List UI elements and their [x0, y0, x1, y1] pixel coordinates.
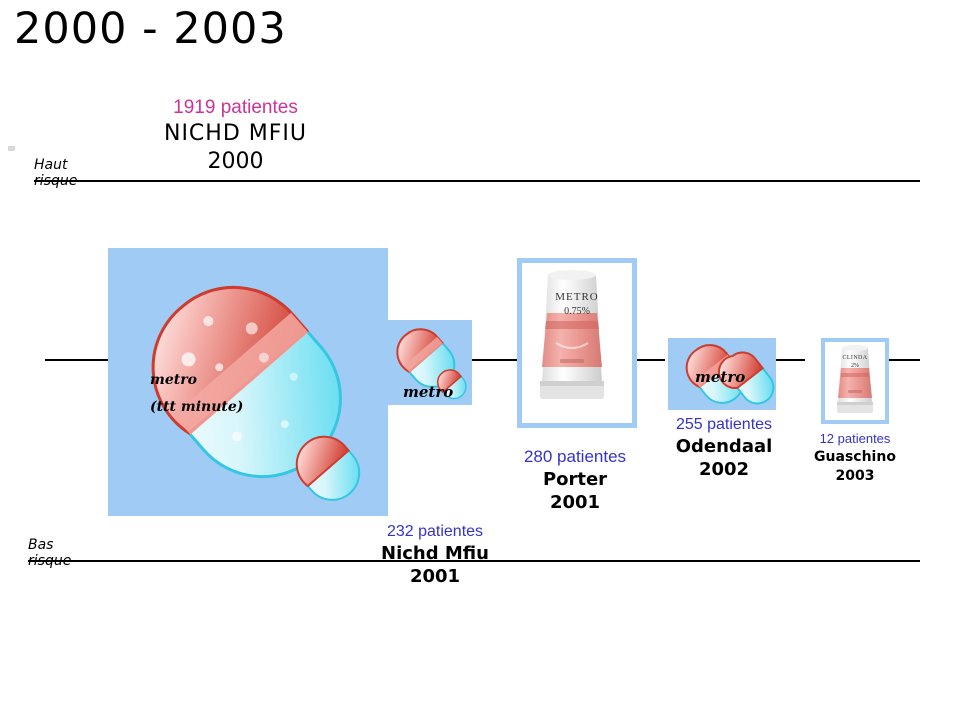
slide-canvas: 2000 - 2003 Haut risque Bas risque 1919 …	[0, 0, 960, 720]
corner-artifact	[8, 146, 15, 151]
study-caption: 232 patientes Nichd Mfiu 2001	[373, 522, 497, 588]
study-caption: 280 patientes Porter 2001	[505, 446, 645, 514]
drug-note-metro: metro	[403, 383, 453, 401]
tube-brand-label: CLINDA	[825, 355, 885, 361]
high-risk-label-line2: risque	[34, 173, 77, 189]
study-name: Odendaal	[658, 435, 790, 458]
study-odendaal-2002[interactable]: 255 patientes Odendaal 2002	[658, 338, 790, 481]
study-caption: 255 patientes Odendaal 2002	[658, 414, 790, 481]
headline-patient-count: 1919 patientes	[128, 95, 343, 120]
headline-study-name: NICHD MFIU	[128, 120, 343, 148]
study-year: 2001	[505, 491, 645, 514]
high-risk-label: Haut risque	[34, 157, 77, 189]
low-risk-label-line2: risque	[28, 553, 71, 569]
cream-tube-icon	[825, 342, 885, 420]
patient-count: 12 patientes	[795, 430, 915, 448]
patient-count: 255 patientes	[658, 414, 790, 435]
study-nichd-mfiu-2001[interactable]: 232 patientes Nichd Mfiu 2001	[108, 248, 498, 588]
tube-dose-label: 0.75%	[522, 306, 632, 317]
study-guaschino-2003[interactable]: CLINDA 2% 12 patientes Guaschino 2003	[795, 338, 915, 486]
high-risk-label-line1: Haut	[34, 157, 77, 173]
headline-study-year: 2000	[128, 148, 343, 175]
study-name: Guaschino	[795, 448, 915, 467]
study-year: 2003	[795, 467, 915, 486]
clinda-cream-tube-image: CLINDA 2%	[821, 338, 889, 424]
metro-gel-tube-image: METRO 0.75%	[517, 258, 637, 428]
study-porter-2001[interactable]: METRO 0.75% 280 patientes Porter 2001	[505, 258, 645, 514]
study-name: Porter	[505, 468, 645, 491]
drug-note-duration: (ttt minute)	[150, 399, 243, 415]
patient-count: 232 patientes	[373, 522, 497, 542]
low-risk-label: Bas risque	[28, 537, 71, 569]
patient-count: 280 patientes	[505, 446, 645, 468]
study-name: Nichd Mfiu	[373, 542, 497, 565]
headline-study: 1919 patientes NICHD MFIU 2000	[128, 95, 343, 175]
drug-note-metro: metro	[695, 368, 745, 386]
tube-dose-label: 2%	[825, 363, 885, 369]
low-risk-label-line1: Bas	[28, 537, 71, 553]
drug-note-metro: metro	[150, 372, 197, 388]
timeline-axis-segment	[45, 359, 111, 361]
gel-tube-icon	[522, 263, 622, 413]
study-caption: 12 patientes Guaschino 2003	[795, 430, 915, 486]
high-risk-axis-line	[34, 180, 920, 182]
page-title: 2000 - 2003	[14, 4, 287, 54]
tube-brand-label: METRO	[522, 291, 632, 303]
study-year: 2001	[373, 565, 497, 588]
study-year: 2002	[658, 458, 790, 481]
